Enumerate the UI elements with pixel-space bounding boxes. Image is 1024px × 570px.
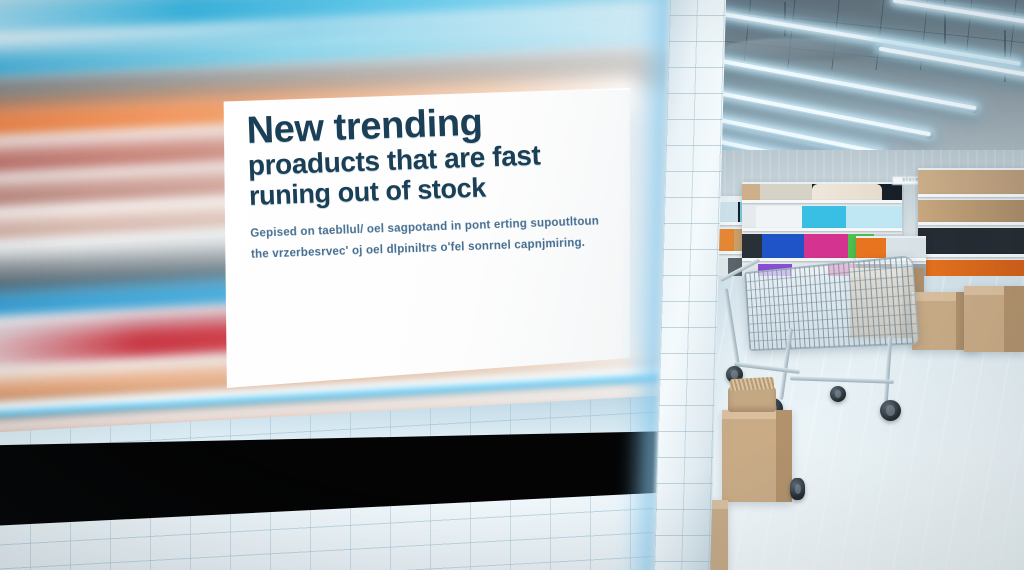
cardboard-box bbox=[964, 286, 1024, 352]
cardboard-box-foreground bbox=[722, 410, 792, 502]
cart-caster bbox=[880, 400, 901, 421]
cart-caster bbox=[830, 386, 846, 402]
subcopy-line-1: Gepised on taebllul/ oel sagpotand in po… bbox=[250, 215, 620, 240]
cart-lower-bar bbox=[734, 362, 800, 374]
paper-bags bbox=[730, 377, 775, 391]
subcopy-line-2: the vrzerbesrvec' oj oel dlpiniltrs o'fe… bbox=[251, 236, 621, 261]
cart-lower-bar bbox=[790, 376, 894, 384]
billboard-headline: New trending proaducts that are fast run… bbox=[246, 99, 619, 211]
paper-bag-basket bbox=[728, 386, 776, 412]
store-interior: store bbox=[706, 0, 1024, 570]
stray-caster bbox=[790, 478, 805, 500]
billboard-subcopy: Gepised on taebllul/ oel sagpotand in po… bbox=[250, 215, 621, 261]
motion-blurred-product-aisle: New trending proaducts that are fast run… bbox=[0, 0, 700, 570]
promotional-billboard[interactable]: New trending proaducts that are fast run… bbox=[222, 88, 630, 388]
lamp-hanger bbox=[784, 2, 786, 36]
cart-wire-basket bbox=[744, 255, 919, 351]
store-billboard-scene: store bbox=[0, 0, 1024, 570]
cart-leg bbox=[884, 336, 893, 404]
cart-leg bbox=[724, 288, 740, 368]
